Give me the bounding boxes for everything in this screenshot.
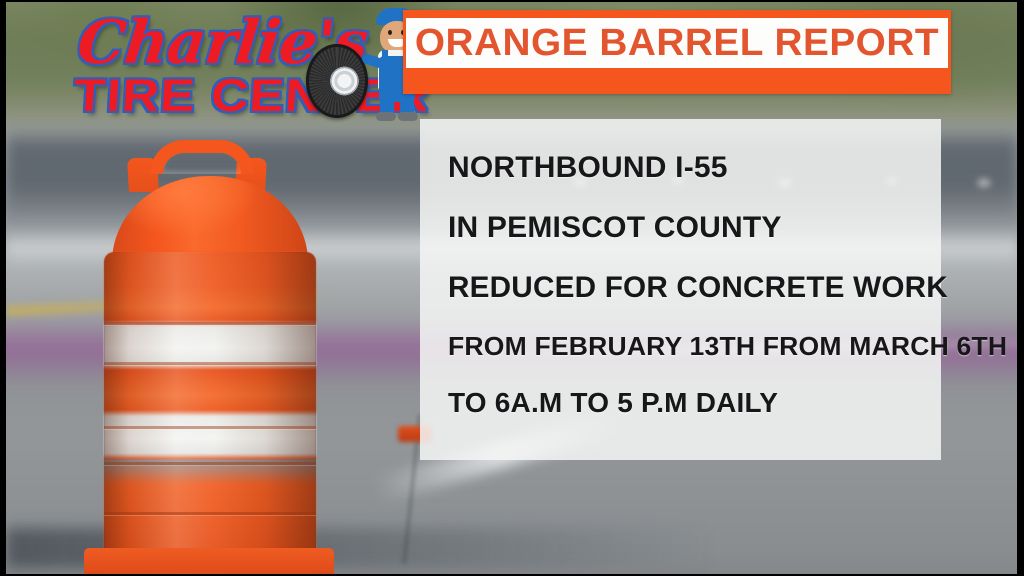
mascot-shoe-left bbox=[376, 112, 396, 121]
information-panel: NORTHBOUND I-55 IN PEMISCOT COUNTY REDUC… bbox=[420, 119, 941, 460]
video-frame: Charlie's TIRE CENTER bbox=[6, 2, 1018, 574]
barrel-seam bbox=[104, 362, 316, 365]
info-line-1: NORTHBOUND I-55 bbox=[448, 153, 941, 183]
headline-title: ORANGE BARREL REPORT bbox=[415, 22, 939, 65]
pillarbox-right bbox=[1017, 0, 1024, 576]
barrel-cylinder-shading bbox=[104, 252, 316, 562]
barrel-seam bbox=[104, 462, 316, 465]
headline-bar-inner: ORANGE BARREL REPORT bbox=[406, 13, 948, 91]
barrel-seam bbox=[104, 322, 316, 325]
info-line-2: IN PEMISCOT COUNTY bbox=[448, 213, 941, 243]
barrel-handle bbox=[150, 140, 254, 174]
broadcast-screen: Charlie's TIRE CENTER bbox=[0, 0, 1024, 576]
barrel-base bbox=[84, 548, 334, 574]
mascot-eye-left bbox=[388, 30, 392, 35]
barrel-seam bbox=[104, 426, 316, 429]
tire-icon bbox=[306, 44, 368, 118]
info-line-4: FROM FEBRUARY 13TH FROM MARCH 6TH bbox=[448, 333, 951, 359]
letterbox-top bbox=[0, 0, 1024, 2]
sponsor-logo: Charlie's TIRE CENTER bbox=[72, 6, 392, 124]
headline-white-band: ORANGE BARREL REPORT bbox=[406, 18, 948, 68]
headline-bar: ORANGE BARREL REPORT bbox=[403, 10, 951, 94]
info-line-3: REDUCED FOR CONCRETE WORK bbox=[448, 273, 936, 303]
mascot-shoe-right bbox=[398, 112, 418, 121]
info-line-5: TO 6A.M TO 5 P.M DAILY bbox=[448, 389, 941, 417]
orange-traffic-barrel bbox=[78, 140, 340, 574]
pillarbox-left bbox=[0, 0, 6, 576]
barrel-seam bbox=[104, 512, 316, 515]
